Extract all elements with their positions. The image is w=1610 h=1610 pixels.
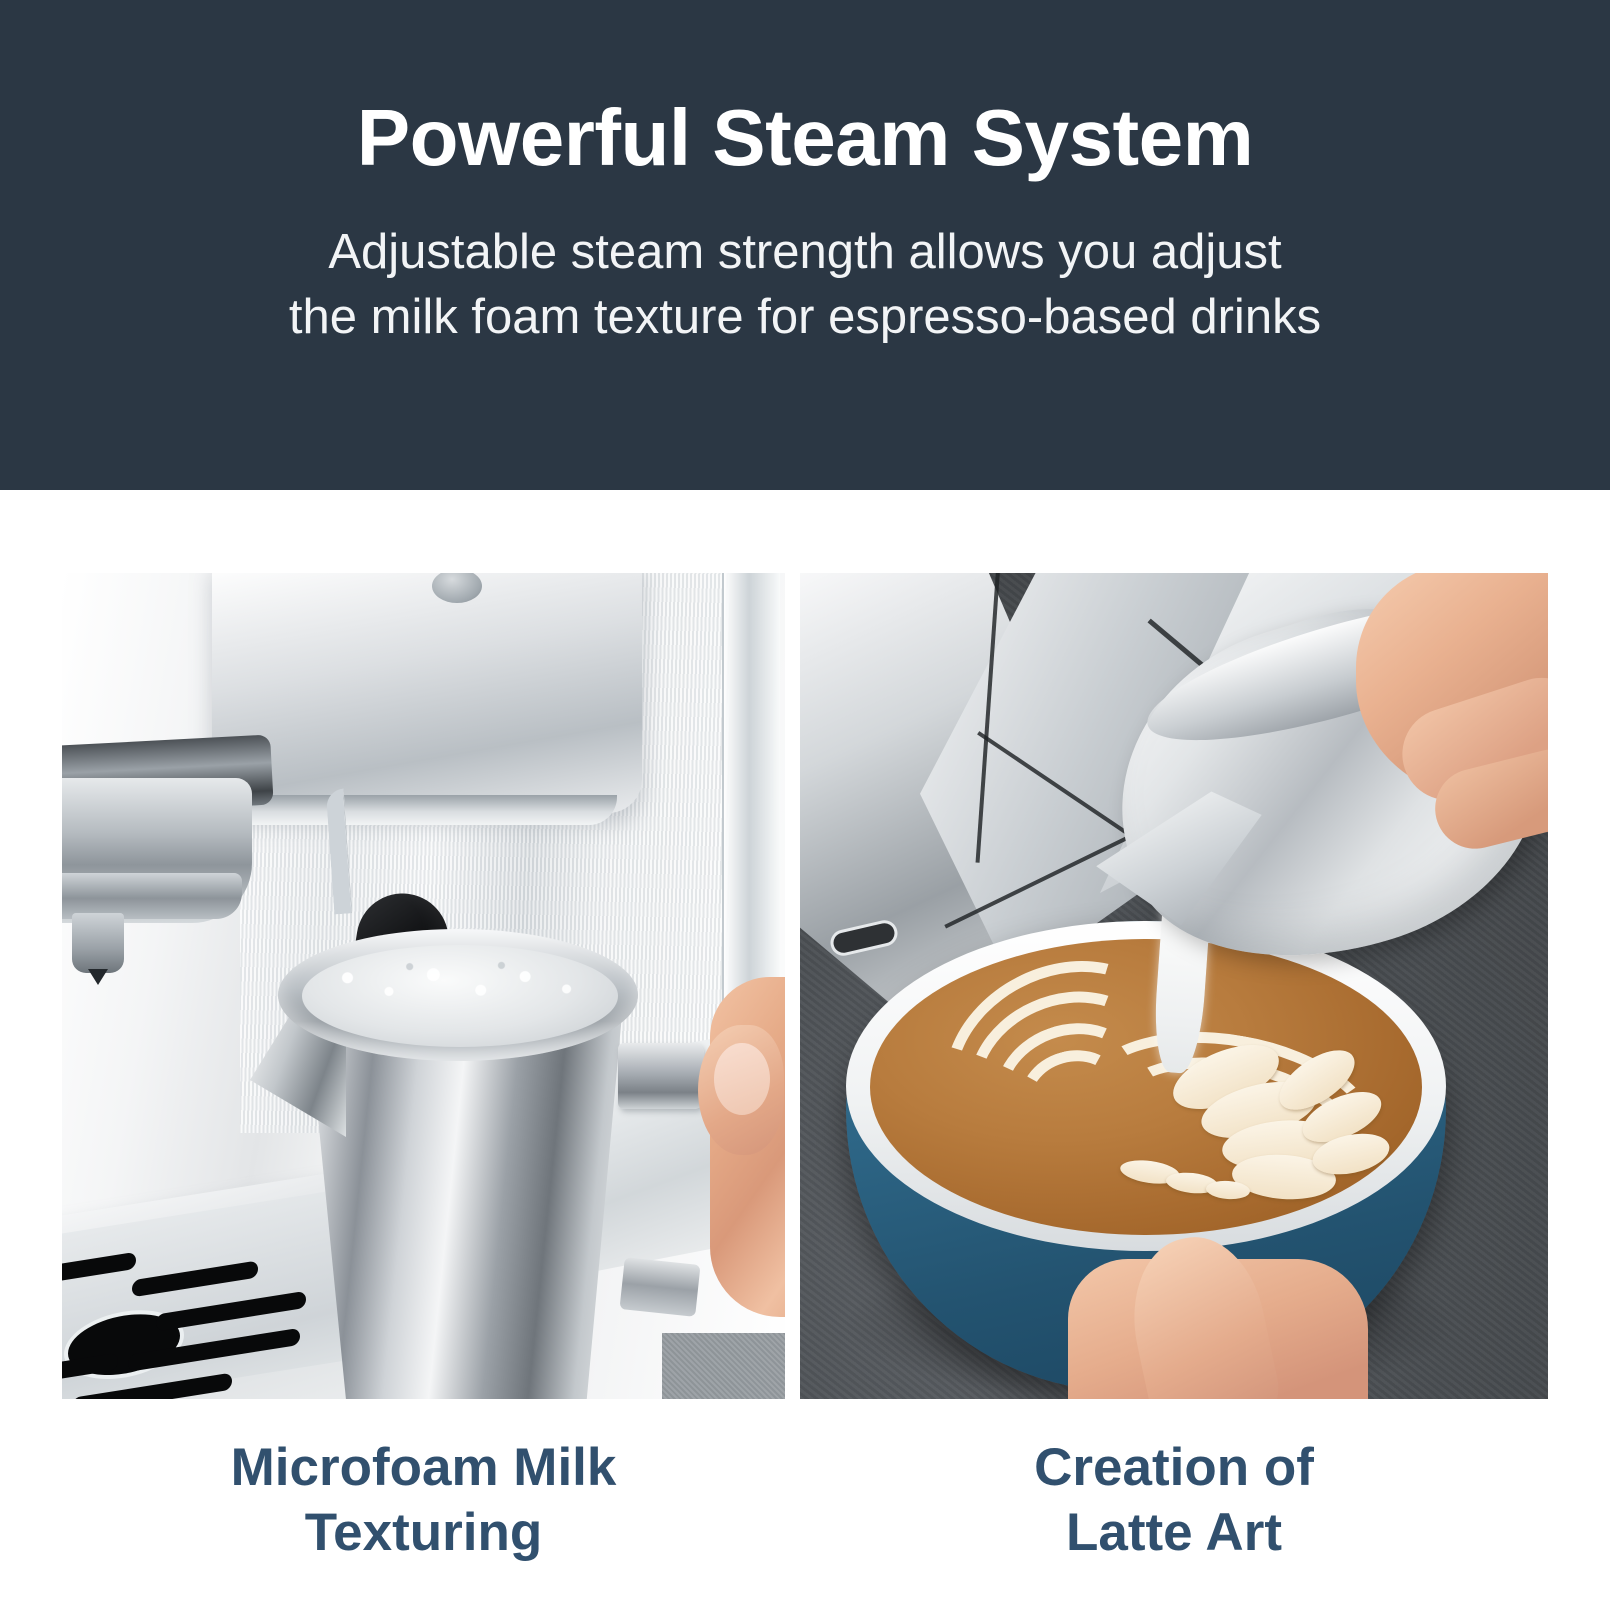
drip-tray-slot <box>72 1373 232 1399</box>
portafilter-tip-icon <box>88 969 108 985</box>
subtitle-line-2: the milk foam texture for espresso-based… <box>289 285 1321 350</box>
portafilter-spout <box>72 913 124 973</box>
drip-tray-slot <box>62 1252 136 1284</box>
caption-row: Microfoam Milk Texturing Creation of Lat… <box>0 1400 1610 1610</box>
countertop-edge <box>662 1333 785 1399</box>
photo-creation-of-latte-art <box>800 573 1548 1399</box>
caption-line-2: Latte Art <box>800 1501 1548 1566</box>
subtitle-line-1: Adjustable steam strength allows you adj… <box>328 225 1281 279</box>
caption-line-2: Texturing <box>62 1501 785 1566</box>
microfoam-bubbles <box>312 953 608 1015</box>
drip-tray-slot <box>156 1291 306 1332</box>
feature-image-row <box>0 573 1610 1399</box>
machine-group-head-housing <box>212 573 642 813</box>
milk-pitcher-handle <box>618 1043 704 1109</box>
thumbnail <box>714 1043 770 1115</box>
photo-microfoam-milk-texturing <box>62 573 785 1399</box>
latte-art-rosetta <box>870 939 1422 1235</box>
header-banner: Powerful Steam System Adjustable steam s… <box>0 0 1610 490</box>
caption-creation-of-latte-art: Creation of Latte Art <box>800 1436 1548 1565</box>
caption-line-1: Creation of <box>1034 1438 1314 1497</box>
milk-pitcher-handle-lower <box>619 1257 700 1317</box>
machine-head-lip <box>212 795 617 825</box>
page-subtitle: Adjustable steam strength allows you adj… <box>289 220 1321 349</box>
caption-microfoam-milk-texturing: Microfoam Milk Texturing <box>62 1436 785 1565</box>
product-feature-page: Powerful Steam System Adjustable steam s… <box>0 0 1610 1610</box>
latte-crema-surface <box>870 939 1422 1235</box>
page-title: Powerful Steam System <box>357 96 1254 180</box>
caption-line-1: Microfoam Milk <box>231 1438 617 1497</box>
drip-tray-slot <box>132 1260 258 1297</box>
